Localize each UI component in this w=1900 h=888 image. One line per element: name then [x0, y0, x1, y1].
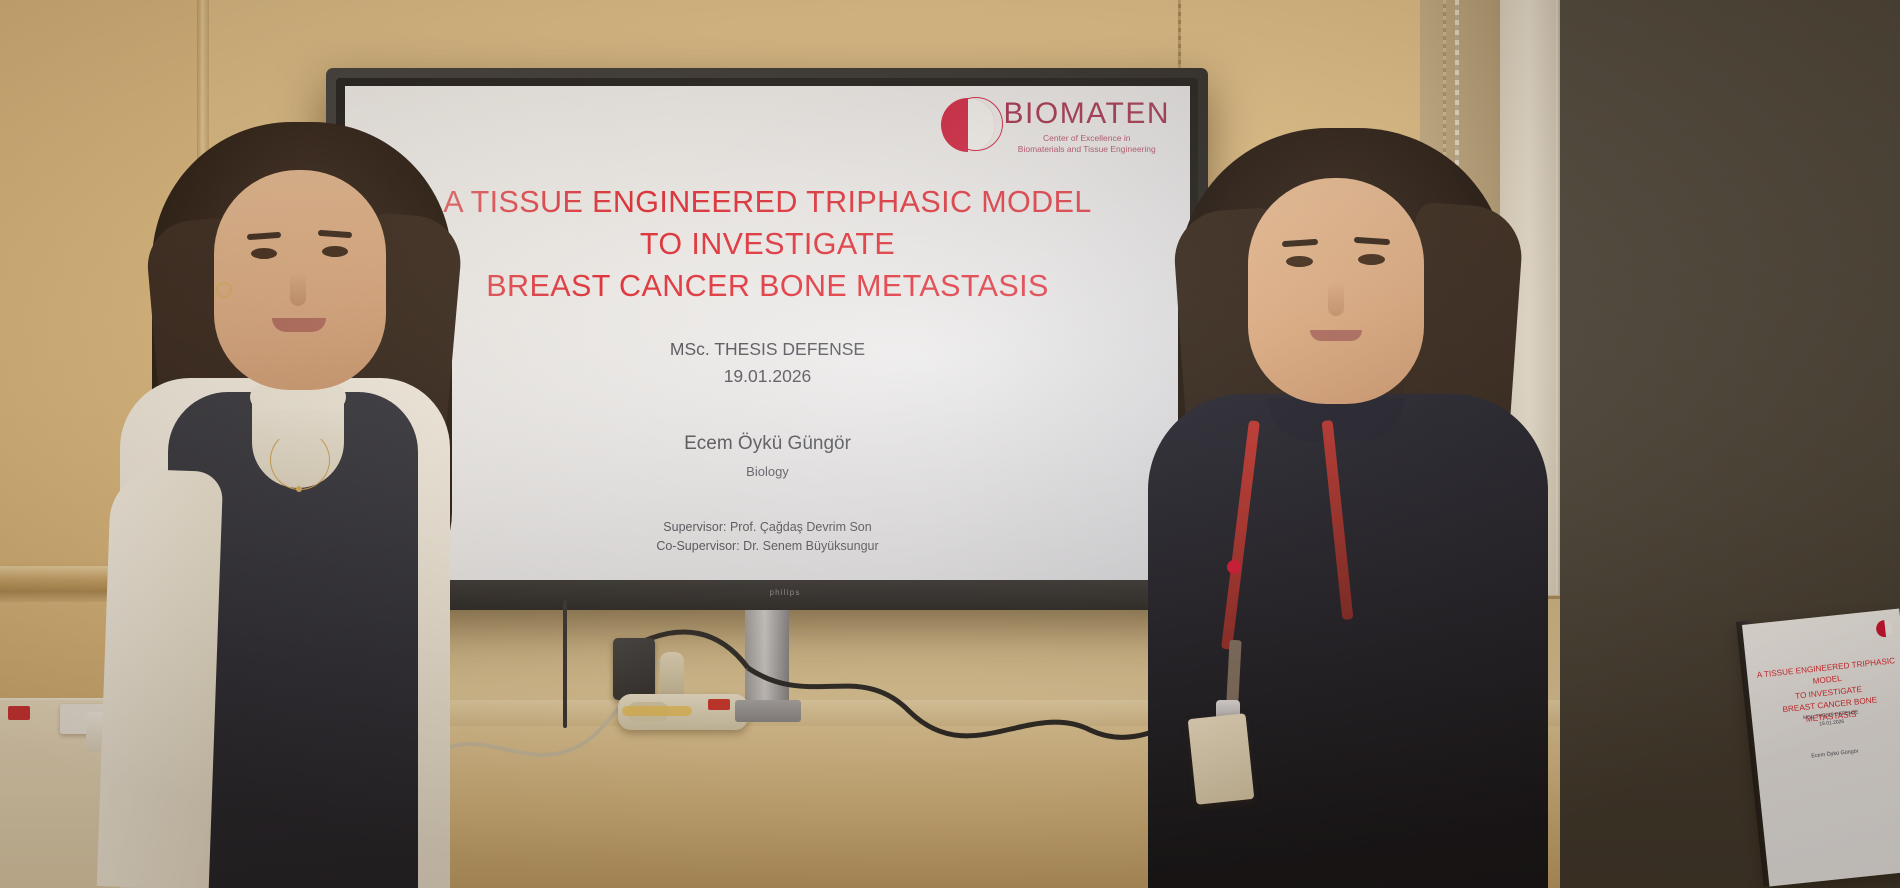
person-right-eye-left	[1286, 256, 1313, 267]
plug-connector	[660, 652, 684, 700]
logo-wordmark: BIOMATEN	[1004, 99, 1170, 129]
slide-event-block: MSc. THESIS DEFENSE 19.01.2026	[345, 336, 1190, 389]
person-left-necklace	[270, 430, 330, 490]
person-left-eye-right	[322, 246, 348, 257]
slide-title-line-1: A TISSUE ENGINEERED TRIPHASIC MODEL	[345, 181, 1190, 223]
poster-author: Ecem Öykü Güngör	[1762, 742, 1900, 765]
presentation-slide: BIOMATEN Center of Excellence in Biomate…	[345, 86, 1190, 589]
slide-date: 19.01.2026	[345, 363, 1190, 390]
slide-supervisors: Supervisor: Prof. Çağdaş Devrim Son Co-S…	[345, 518, 1190, 557]
biomaten-logo: BIOMATEN Center of Excellence in Biomate…	[941, 98, 1170, 156]
logo-tagline: Center of Excellence in Biomaterials and…	[1018, 129, 1156, 156]
power-strip-switch[interactable]	[708, 699, 730, 710]
person-left-pendant	[296, 486, 302, 492]
monitor-brand-label: philips	[745, 588, 825, 600]
monitor-screen: BIOMATEN Center of Excellence in Biomate…	[345, 86, 1190, 589]
slide-title-line-2: TO INVESTIGATE	[345, 223, 1190, 265]
person-left-nose	[290, 272, 306, 306]
printed-poster: A TISSUE ENGINEERED TRIPHASIC MODEL TO I…	[1742, 608, 1900, 886]
slide-title: A TISSUE ENGINEERED TRIPHASIC MODEL TO I…	[345, 181, 1190, 307]
person-right-mouth	[1310, 330, 1362, 341]
person-right-nose	[1328, 282, 1344, 316]
slide-department: Biology	[345, 464, 1190, 479]
person-left-eye-left	[251, 248, 277, 259]
power-adapter	[613, 638, 655, 700]
id-badge	[1188, 713, 1255, 805]
slide-author: Ecem Öykü Güngör	[345, 434, 1190, 455]
person-right-eye-right	[1358, 254, 1385, 265]
slide-title-line-3: BREAST CANCER BONE METASTASIS	[345, 265, 1190, 307]
photo-scene: BIOMATEN Center of Excellence in Biomate…	[0, 0, 1900, 888]
slide-co-supervisor: Co-Supervisor: Dr. Senem Büyüksungur	[345, 537, 1190, 556]
person-left-mouth	[272, 318, 326, 332]
slide-supervisor: Supervisor: Prof. Çağdaş Devrim Son	[345, 518, 1190, 537]
red-object	[8, 706, 30, 720]
person-left-earring	[216, 282, 232, 298]
person-left-sleeve	[97, 468, 224, 888]
slide-event-label: MSc. THESIS DEFENSE	[345, 336, 1190, 363]
person-right-top	[1148, 394, 1548, 888]
power-strip-indicator	[622, 706, 692, 716]
poster-logo-highlight	[1884, 619, 1894, 637]
biomaten-circle-icon	[941, 98, 995, 152]
monitor-stand-foot	[735, 700, 801, 722]
